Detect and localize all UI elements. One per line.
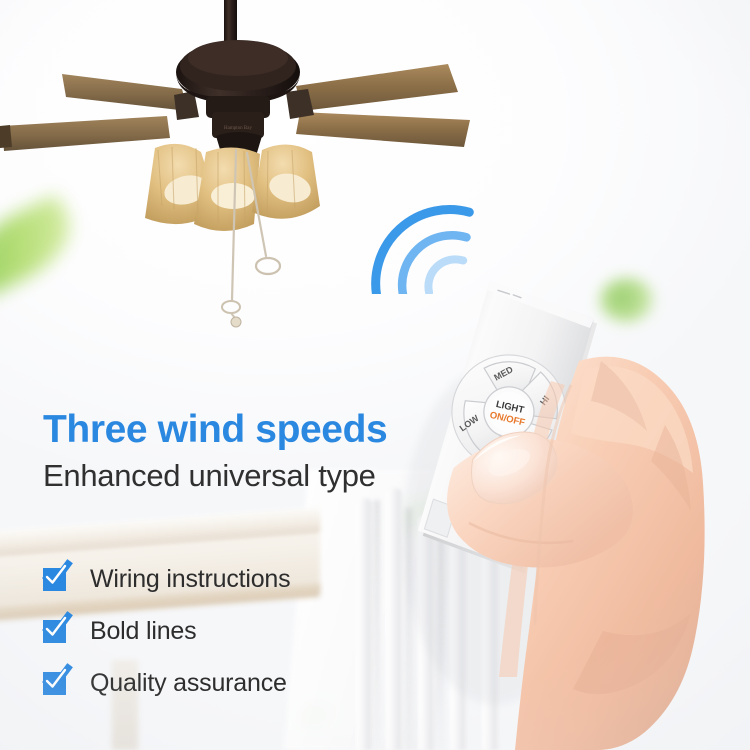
- feature-list: Wiring instructions Bold lines Quality a…: [43, 553, 463, 709]
- list-item: Wiring instructions: [43, 553, 463, 605]
- product-banner: Hampton Bay: [0, 0, 750, 750]
- headline-block: Three wind speeds Enhanced universal typ…: [43, 409, 463, 494]
- checkbox-checked-icon: [43, 620, 66, 643]
- list-item-label: Wiring instructions: [90, 565, 290, 594]
- list-item: Quality assurance: [43, 657, 463, 709]
- fan-light-shades: [145, 144, 320, 231]
- table-top-blur: [0, 507, 320, 557]
- list-item: Bold lines: [43, 605, 463, 657]
- list-item-label: Quality assurance: [90, 669, 287, 698]
- list-item-label: Bold lines: [90, 617, 196, 646]
- svg-text:Hampton Bay: Hampton Bay: [224, 126, 252, 131]
- checkbox-checked-icon: [43, 568, 66, 591]
- page-subtitle: Enhanced universal type: [43, 459, 463, 494]
- page-title: Three wind speeds: [43, 409, 463, 450]
- checkbox-checked-icon: [43, 672, 66, 695]
